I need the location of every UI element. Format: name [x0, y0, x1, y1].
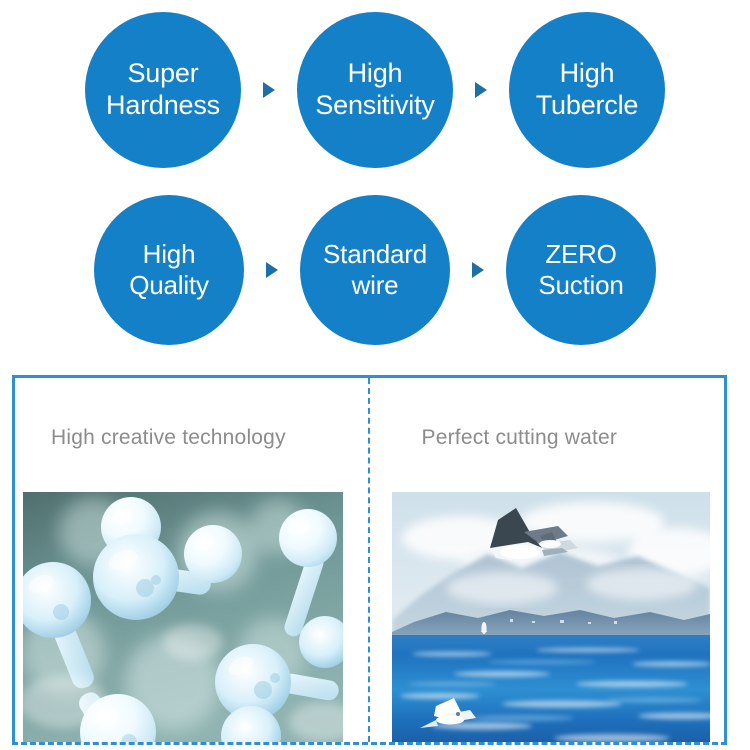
showcase-panel: High creative technology — [12, 375, 727, 745]
molecule-ice-structure-image — [23, 492, 343, 742]
flow-node-label: High Sensitivity — [309, 58, 440, 122]
flow-node-label: ZERO Suction — [532, 239, 629, 300]
flow-arrow-4 — [450, 192, 506, 348]
flow-node-label: Standard wire — [317, 239, 433, 300]
showcase-inner: High creative technology — [15, 378, 724, 742]
flow-node-high-sensitivity[interactable]: High Sensitivity — [297, 12, 453, 168]
flow-node-standard-wire[interactable]: Standard wire — [300, 195, 450, 345]
showcase-caption: Perfect cutting water — [422, 426, 618, 450]
flow-node-label: Super Hardness — [100, 58, 226, 122]
feature-flow-section: Super Hardness High Sensitivity High Tub… — [0, 0, 750, 360]
showcase-cell-perfect-cutting-water: Perfect cutting water — [370, 378, 725, 742]
showcase-caption: High creative technology — [51, 426, 286, 450]
flow-node-high-quality[interactable]: High Quality — [94, 195, 244, 345]
triangle-right-icon — [264, 261, 280, 279]
triangle-right-icon — [470, 261, 486, 279]
seascape-seagull-image — [392, 492, 710, 742]
triangle-right-icon — [473, 81, 489, 99]
flow-node-zero-suction[interactable]: ZERO Suction — [506, 195, 656, 345]
flow-arrow-1 — [241, 12, 297, 168]
flow-node-super-hardness[interactable]: Super Hardness — [85, 12, 241, 168]
flow-row-1: Super Hardness High Sensitivity High Tub… — [0, 5, 750, 175]
flow-node-label: High Tubercle — [530, 58, 644, 122]
triangle-right-icon — [261, 81, 277, 99]
flow-node-high-tubercle[interactable]: High Tubercle — [509, 12, 665, 168]
flow-node-label: High Quality — [123, 239, 215, 300]
flow-row-2: High Quality Standard wire ZERO Suction — [0, 185, 750, 355]
showcase-cell-high-creative-technology: High creative technology — [15, 378, 370, 742]
flow-arrow-3 — [244, 192, 300, 348]
flow-arrow-2 — [453, 12, 509, 168]
